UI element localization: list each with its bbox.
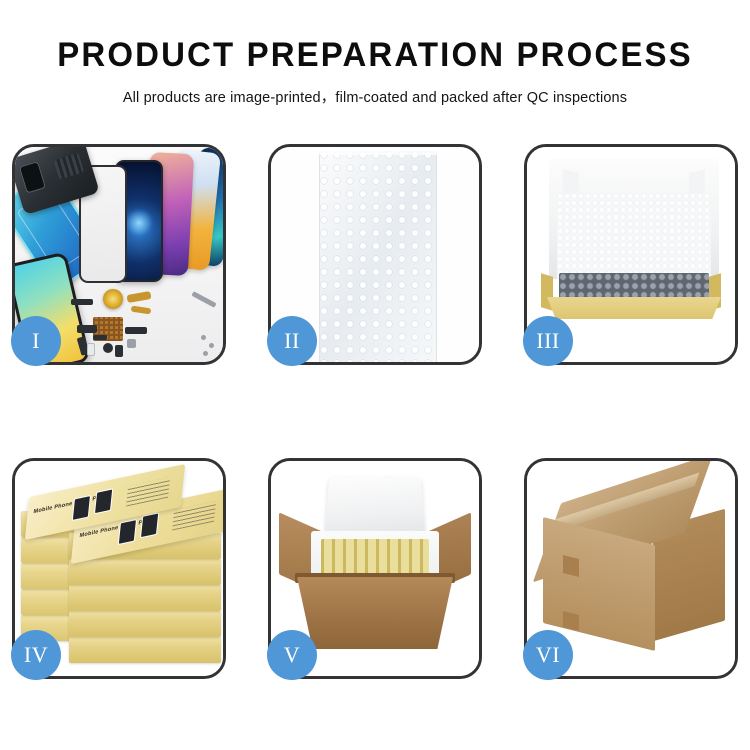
step-panel-5: V [268,458,482,679]
part-screw-2 [209,343,214,348]
step-badge-4: IV [11,630,61,680]
step-badge-2: II [267,316,317,366]
step-badge-5: V [267,630,317,680]
part-sensor [115,345,123,357]
part-screw-1 [201,335,206,340]
carton-tab-upper [563,555,579,577]
part-flex-cable-1 [126,291,151,303]
part-flex-cable-2 [131,306,152,315]
box-label-lines-1 [126,477,170,506]
foam-lid [325,477,426,538]
page-title: PRODUCT PREPARATION PROCESS [11,36,739,75]
step-panel-1: I [12,144,226,365]
step-badge-3: III [523,316,573,366]
part-tweezers [191,291,216,308]
box-front-panel [547,297,721,319]
steps-grid: I II [12,144,738,680]
part-camera [103,343,113,353]
page-subtitle: All products are image-printed，film-coat… [0,86,750,107]
part-speaker [71,299,93,305]
product-preparation-infographic: PRODUCT PREPARATION PROCESS All products… [0,0,750,750]
box-label-screen-c [72,495,91,521]
step-panel-2: II [268,144,482,365]
part-connector-2 [125,327,147,334]
box-label-screen-b [140,512,159,538]
header: PRODUCT PREPARATION PROCESS All products… [0,0,750,107]
part-screw-3 [203,351,208,356]
bubble-wrap-bag [319,151,437,362]
step-panel-6: VI [524,458,738,679]
step-panel-4: Mobile Phone Spare Parts Mobile Phone Sp… [12,458,226,679]
coil-part [103,289,123,309]
box-label-screen-d [94,488,113,514]
part-connector-1 [77,325,97,333]
step-badge-6: VI [523,630,573,680]
carton-body [297,577,453,649]
box-label-screen-a [118,519,137,545]
step-badge-1: I [11,316,61,366]
part-bracket [93,335,107,340]
bag-seal [319,147,437,155]
stacked-box [69,559,221,585]
part-sim-tray [87,343,95,356]
stacked-box [69,585,221,611]
step-panel-3: III [524,144,738,365]
part-button [127,339,136,348]
stacked-box [69,637,221,663]
foam-sheet [557,193,711,279]
stacked-box [69,611,221,637]
